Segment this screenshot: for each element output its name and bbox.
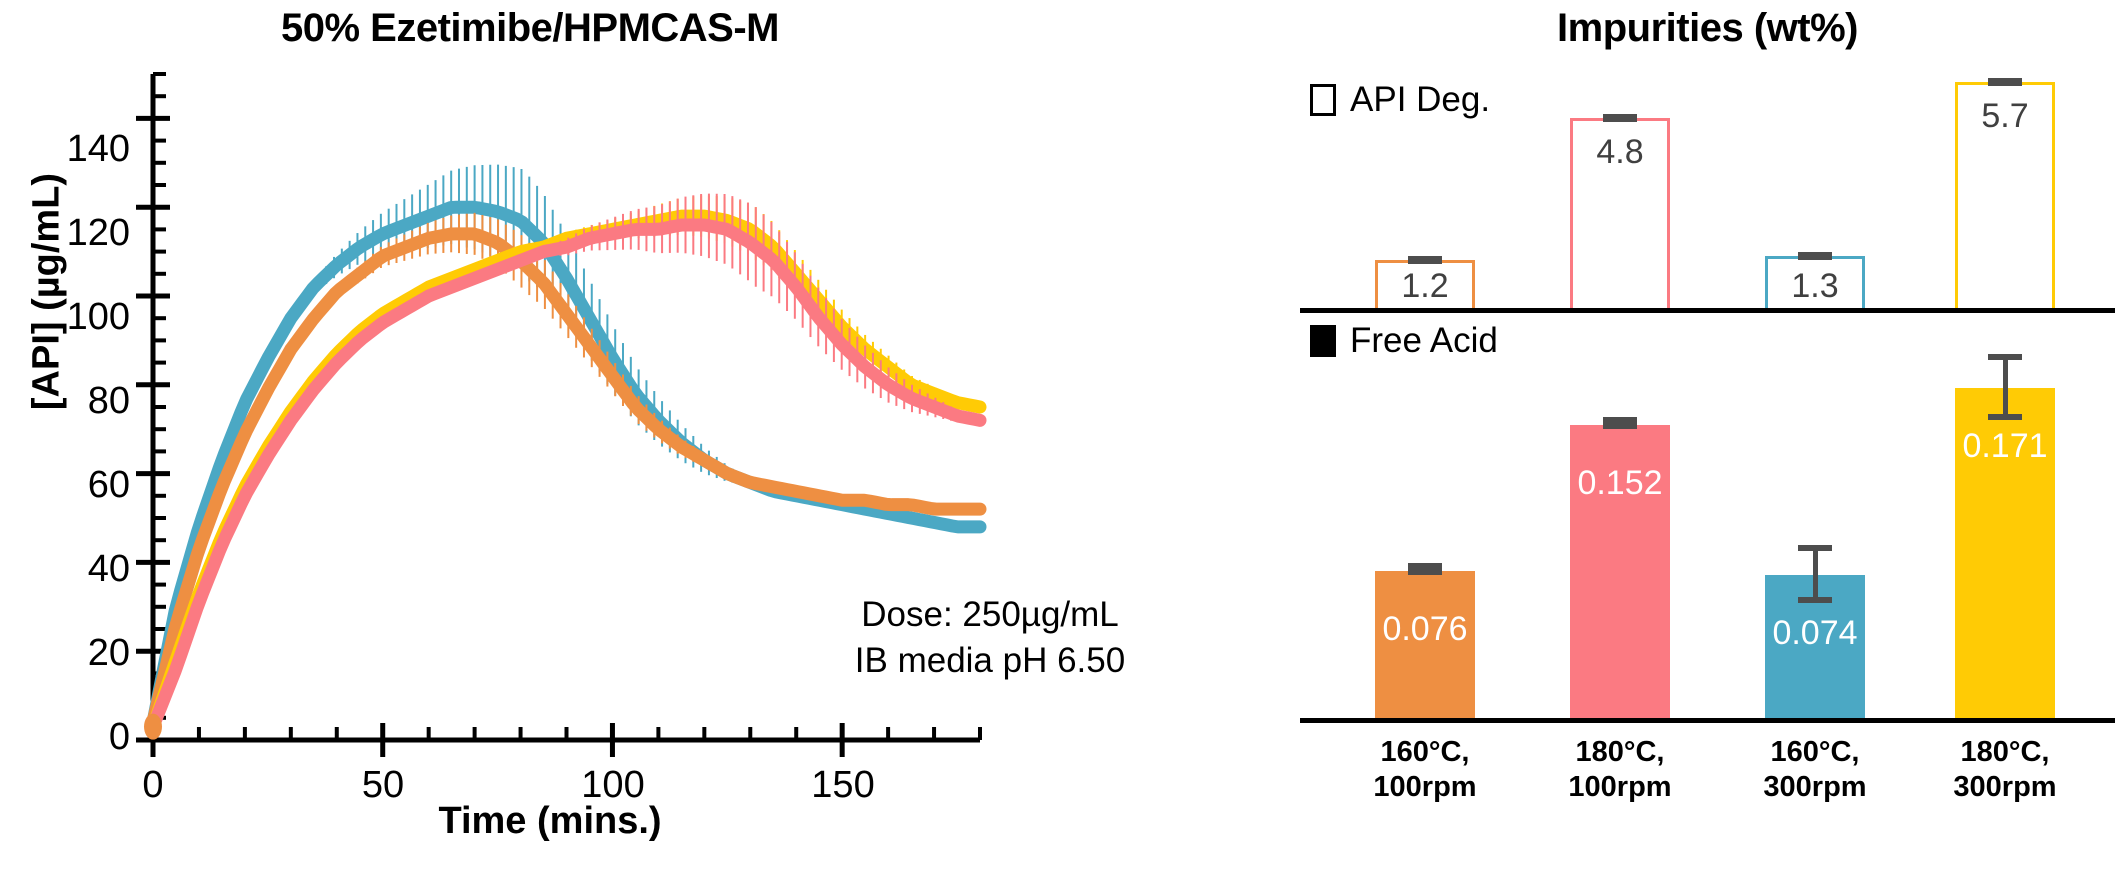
- figure-root: 50% Ezetimibe/HPMCAS-M [API] (µg/mL) Tim…: [0, 0, 2115, 891]
- error-bar-stem: [1813, 547, 1818, 603]
- api-deg-value-label: 1.3: [1755, 267, 1875, 306]
- category-label-line1: 160°C,: [1330, 735, 1520, 770]
- error-bar: [1603, 114, 1637, 122]
- annotation-dose: Dose: 250µg/mL: [700, 592, 1280, 638]
- free-acid-subplot: Free Acid 0.0760.1520.0740.171: [1300, 313, 2115, 723]
- category-label-line2: 100rpm: [1525, 770, 1715, 805]
- left-panel-dissolution-chart: 50% Ezetimibe/HPMCAS-M [API] (µg/mL) Tim…: [0, 0, 1300, 891]
- api-deg-value-label: 4.8: [1560, 133, 1680, 172]
- category-label-line2: 100rpm: [1330, 770, 1520, 805]
- category-label: 180°C,100rpm: [1525, 735, 1715, 806]
- error-bar-stem: [2003, 356, 2008, 420]
- error-bar-cap: [1408, 567, 1442, 575]
- free-acid-value-label: 0.074: [1755, 614, 1875, 653]
- error-bar-cap: [1988, 414, 2022, 420]
- category-label: 160°C,300rpm: [1720, 735, 1910, 806]
- category-label-line1: 180°C,: [1525, 735, 1715, 770]
- origin-marker: [144, 714, 162, 740]
- annotation-media: IB media pH 6.50: [700, 638, 1280, 684]
- api-deg-value-label: 1.2: [1365, 267, 1485, 306]
- category-label-line2: 300rpm: [1720, 770, 1910, 805]
- error-bar-cap: [1603, 421, 1637, 429]
- api-deg-bar-group: 1.24.81.35.7: [1300, 58, 2115, 308]
- category-label: 160°C,100rpm: [1330, 735, 1520, 806]
- free-acid-value-label: 0.152: [1560, 464, 1680, 503]
- error-bar-cap: [1798, 545, 1832, 551]
- error-bar-cap: [1798, 597, 1832, 603]
- free-acid-bar-group: 0.0760.1520.0740.171: [1300, 313, 2115, 718]
- category-label-line1: 160°C,: [1720, 735, 1910, 770]
- plot-annotation: Dose: 250µg/mL IB media pH 6.50: [700, 592, 1280, 684]
- right-chart-title: Impurities (wt%): [1300, 6, 2115, 51]
- free-acid-value-label: 0.171: [1945, 427, 2065, 466]
- category-label: 180°C,300rpm: [1910, 735, 2100, 806]
- api-deg-subplot: API Deg. 1.24.81.35.7: [1300, 58, 2115, 313]
- api-deg-value-label: 5.7: [1945, 97, 2065, 136]
- error-bar: [1408, 256, 1442, 264]
- category-label-line1: 180°C,: [1910, 735, 2100, 770]
- right-panel-impurities-chart: Impurities (wt%) API Deg. 1.24.81.35.7 F…: [1300, 0, 2115, 891]
- free-acid-baseline: [1300, 718, 2115, 723]
- error-bar: [1798, 252, 1832, 260]
- error-bar: [1988, 78, 2022, 86]
- dissolution-plot-canvas: [0, 0, 1300, 891]
- free-acid-value-label: 0.076: [1365, 610, 1485, 649]
- category-label-line2: 300rpm: [1910, 770, 2100, 805]
- error-bar-cap: [1988, 354, 2022, 360]
